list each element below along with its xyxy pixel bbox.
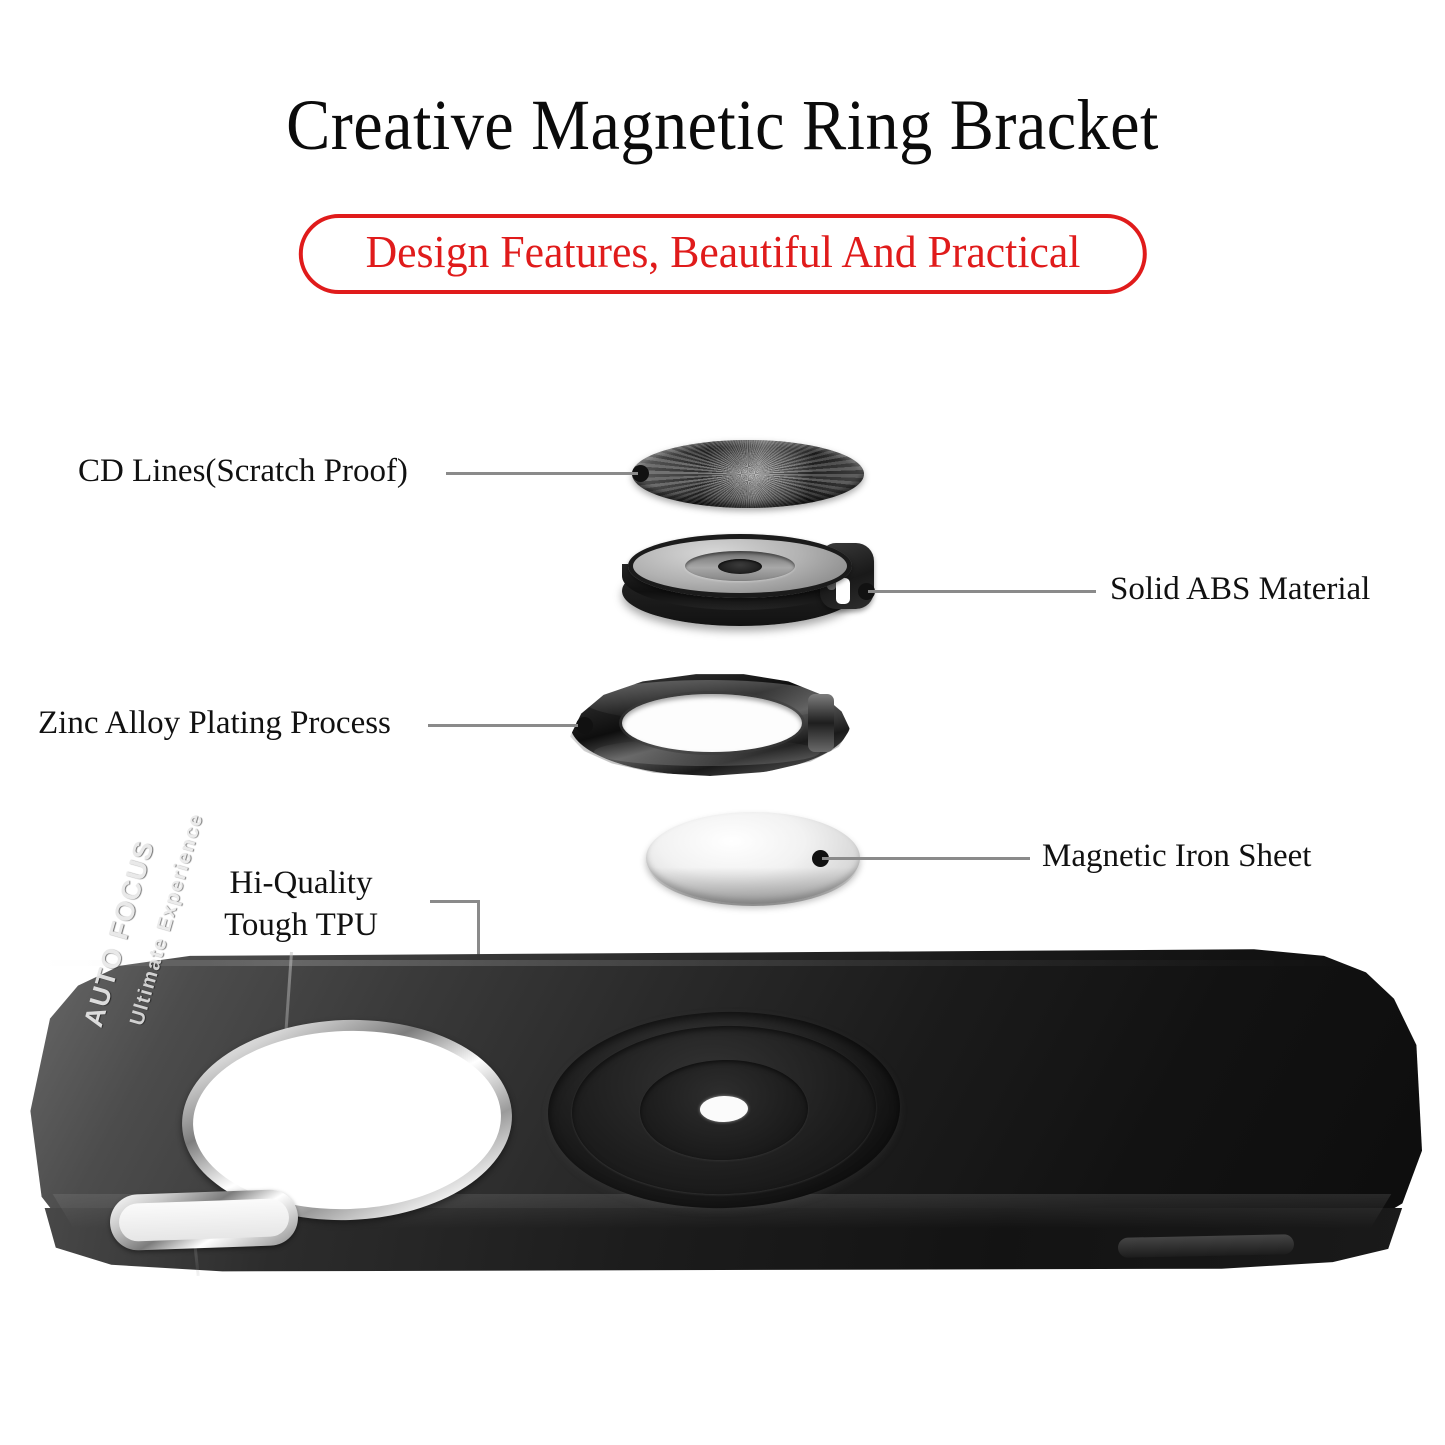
callout-cd-lines: CD Lines(Scratch Proof) [78,450,408,492]
page-title: Creative Magnetic Ring Bracket [58,88,1387,164]
callout-tpu-line1: Hi-Quality [186,862,416,904]
abs-housing-part [622,534,882,634]
subtitle-text: Design Features, Beautiful And Practical [365,226,1080,278]
subtitle-badge: Design Features, Beautiful And Practical [298,214,1146,294]
flash-slot-hole [118,1198,289,1242]
camera-cutout-hole [190,1026,504,1215]
callout-tpu: Hi-Quality Tough TPU [186,862,416,946]
cd-lines-disc-part [632,440,864,508]
abs-housing-center-hole [718,559,762,574]
zinc-alloy-ring-part [570,672,860,784]
iron-sheet-leader-line [822,857,1030,860]
callout-iron-sheet: Magnetic Iron Sheet [1042,835,1311,877]
abs-material-leader-line [868,590,1096,593]
cd-lines-leader-line [446,472,638,475]
tpu-leader-horizontal [430,900,480,903]
callout-zinc-alloy: Zinc Alloy Plating Process [38,702,391,744]
flash-slot-ring [109,1189,299,1252]
callout-tpu-line2: Tough TPU [186,904,416,946]
cd-disc-rim [632,440,864,508]
zinc-alloy-ring-aperture [622,694,802,752]
infographic-canvas: Creative Magnetic Ring Bracket Design Fe… [0,0,1445,1445]
zinc-alloy-leader-line [428,724,578,727]
zinc-ring-hinge [808,694,834,752]
phone-case-top-highlight [40,960,1380,966]
abs-housing-notch [836,578,850,604]
callout-abs-material: Solid ABS Material [1110,568,1370,610]
cd-lines-disc [632,440,864,508]
phone-case-button-cutout [1118,1234,1294,1258]
zinc-alloy-anchor-dot [576,717,593,734]
